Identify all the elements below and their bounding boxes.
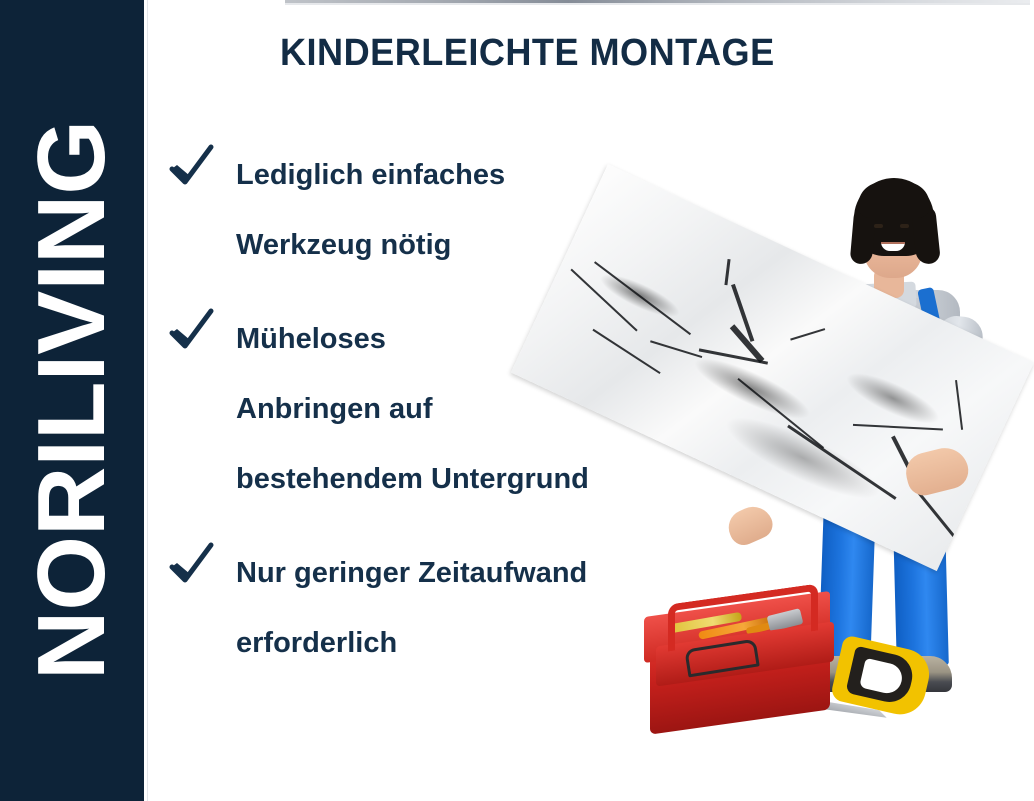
checkmark-icon (168, 542, 214, 588)
toolbox-group (640, 590, 910, 790)
marble-vein (594, 261, 691, 335)
marble-vein (787, 425, 896, 500)
brand-name: NORILIVING (17, 120, 127, 680)
person-hair-fringe (858, 182, 930, 218)
checkmark-icon (168, 308, 214, 354)
checkmark-icon (168, 144, 214, 190)
marble-vein (790, 328, 825, 340)
person-eye-left (874, 224, 883, 228)
promo-banner: NORILIVING KINDERLEICHTE MONTAGE Ledigli… (0, 0, 1034, 801)
product-photo (600, 120, 1034, 801)
page-title: KINDERLEICHTE MONTAGE (280, 32, 775, 75)
top-crop-artifact-shadow (285, 3, 1030, 5)
brand-sidebar-edge (144, 0, 148, 801)
person-eye-right (900, 224, 909, 228)
marble-vein (724, 259, 730, 285)
marble-vein (593, 329, 661, 374)
marble-vein (571, 269, 638, 331)
marble-vein (955, 380, 963, 430)
marble-vein (853, 424, 943, 431)
marble-vein (650, 340, 702, 357)
marble-vein (737, 378, 824, 449)
